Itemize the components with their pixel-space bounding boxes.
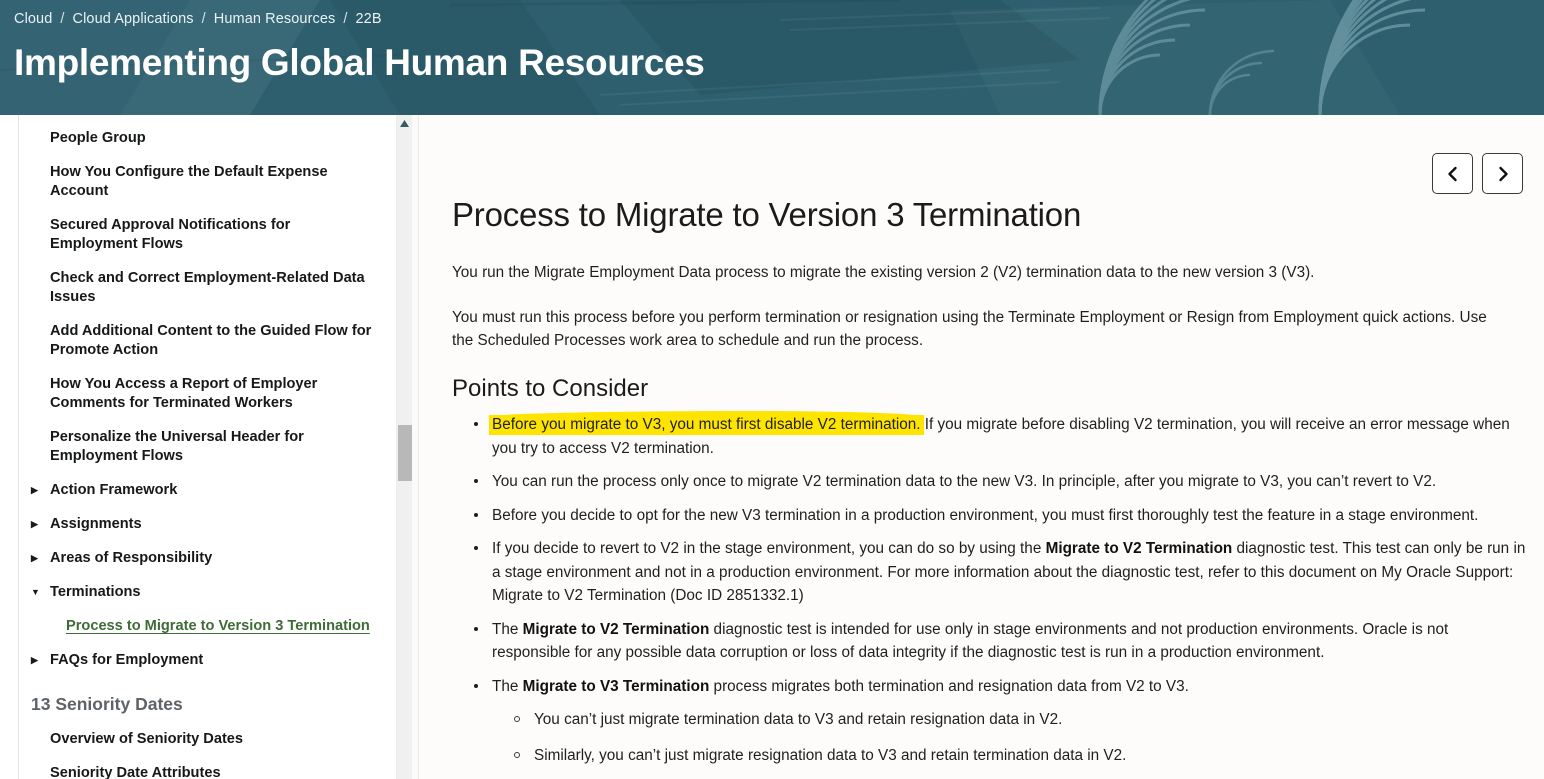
list-item-text-post: process migrates both termination and re… xyxy=(709,678,1189,695)
list-item-text: You can run the process only once to mig… xyxy=(492,473,1436,490)
highlighted-text: Before you migrate to V3, you must first… xyxy=(492,415,921,435)
scroll-up-arrow-icon[interactable] xyxy=(397,115,412,132)
body-area: People Group How You Configure the Defau… xyxy=(0,115,1544,779)
sidebar-item-label: Assignments xyxy=(50,516,142,532)
sidebar-item-terminations[interactable]: ▼ Terminations xyxy=(19,583,392,602)
list-item-text-pre: If you decide to revert to V2 in the sta… xyxy=(492,540,1046,557)
list-item-text-pre: The xyxy=(492,621,523,638)
chevron-right-icon[interactable]: ▶ xyxy=(31,518,41,530)
next-page-button[interactable] xyxy=(1482,153,1523,194)
sidebar-item-people-group[interactable]: People Group xyxy=(19,129,392,148)
chevron-down-icon[interactable]: ▼ xyxy=(31,586,41,598)
sidebar-item-label: Action Framework xyxy=(50,482,177,498)
sidebar-item-action-framework[interactable]: ▶ Action Framework xyxy=(19,481,392,500)
bullet-icon xyxy=(474,546,478,550)
sidebar-item-add-additional-content[interactable]: Add Additional Content to the Guided Flo… xyxy=(19,322,392,360)
list-item-text-bold: Migrate to V2 Termination xyxy=(523,621,710,638)
list-item: The Migrate to V3 Termination process mi… xyxy=(452,675,1527,768)
sidebar-scrollbar-track[interactable] xyxy=(396,115,412,779)
bullet-icon xyxy=(474,684,478,688)
sub-points-list: You can’t just migrate termination data … xyxy=(492,708,1527,767)
sidebar: People Group How You Configure the Defau… xyxy=(0,115,418,779)
breadcrumb-separator: / xyxy=(343,11,347,27)
sidebar-item-process-migrate-v3-active[interactable]: Process to Migrate to Version 3 Terminat… xyxy=(19,617,392,636)
breadcrumb-separator: / xyxy=(202,11,206,27)
sidebar-item-label: Add Additional Content to the Guided Flo… xyxy=(50,323,371,358)
document-title: Process to Migrate to Version 3 Terminat… xyxy=(452,195,1527,235)
sidebar-item-label: Seniority Date Attributes xyxy=(50,765,221,779)
sidebar-item-employer-comments-report[interactable]: How You Access a Report of Employer Comm… xyxy=(19,375,392,413)
sidebar-item-default-expense-account[interactable]: How You Configure the Default Expense Ac… xyxy=(19,163,392,201)
sidebar-item-label: Terminations xyxy=(50,584,141,600)
bullet-icon xyxy=(474,627,478,631)
sidebar-chapter-seniority-dates: 13 Seniority Dates xyxy=(19,694,392,715)
points-list: Before you migrate to V3, you must first… xyxy=(452,413,1527,767)
list-item: You can’t just migrate termination data … xyxy=(492,708,1527,732)
previous-page-button[interactable] xyxy=(1432,153,1473,194)
hollow-bullet-icon xyxy=(514,752,520,758)
sidebar-item-label: Secured Approval Notifications for Emplo… xyxy=(50,217,290,252)
list-item: Similarly, you can’t just migrate resign… xyxy=(492,744,1527,768)
list-item-text: Similarly, you can’t just migrate resign… xyxy=(534,747,1126,764)
chevron-right-icon[interactable]: ▶ xyxy=(31,552,41,564)
sidebar-item-label: Personalize the Universal Header for Emp… xyxy=(50,429,304,464)
sidebar-item-label: People Group xyxy=(50,130,146,146)
sidebar-item-areas-of-responsibility[interactable]: ▶ Areas of Responsibility xyxy=(19,549,392,568)
chevron-right-icon[interactable]: ▶ xyxy=(31,654,41,666)
sidebar-item-label: Areas of Responsibility xyxy=(50,550,212,566)
page-title: Implementing Global Human Resources xyxy=(14,42,705,84)
breadcrumb: Cloud / Cloud Applications / Human Resou… xyxy=(14,11,382,27)
breadcrumb-separator: / xyxy=(60,11,64,27)
intro-paragraph-2: You must run this process before you per… xyxy=(452,306,1512,352)
points-to-consider-heading: Points to Consider xyxy=(452,374,1527,404)
sidebar-item-label: FAQs for Employment xyxy=(50,652,203,668)
list-item: If you decide to revert to V2 in the sta… xyxy=(452,537,1527,608)
bullet-icon xyxy=(474,513,478,517)
sidebar-item-faqs-for-employment[interactable]: ▶ FAQs for Employment xyxy=(19,651,392,670)
chevron-right-icon[interactable]: ▶ xyxy=(31,484,41,496)
sidebar-item-seniority-date-attributes[interactable]: Seniority Date Attributes xyxy=(19,764,392,779)
list-item: The Migrate to V2 Termination diagnostic… xyxy=(452,618,1527,665)
list-item: Before you decide to opt for the new V3 … xyxy=(452,504,1527,528)
sidebar-nav: People Group How You Configure the Defau… xyxy=(19,115,392,779)
sidebar-scrollbar-thumb[interactable] xyxy=(398,425,412,481)
list-item-text-bold: Migrate to V3 Termination xyxy=(523,678,710,695)
hollow-bullet-icon xyxy=(514,716,520,722)
sidebar-item-label: How You Access a Report of Employer Comm… xyxy=(50,376,317,411)
list-item: You can run the process only once to mig… xyxy=(452,470,1527,494)
page-navigation-buttons xyxy=(1432,153,1523,194)
sidebar-item-label: Overview of Seniority Dates xyxy=(50,731,243,747)
sidebar-item-check-correct-employment-data[interactable]: Check and Correct Employment-Related Dat… xyxy=(19,269,392,307)
bullet-icon xyxy=(474,479,478,483)
breadcrumb-item-cloud-applications[interactable]: Cloud Applications xyxy=(73,11,194,27)
list-item-text: Before you decide to opt for the new V3 … xyxy=(492,507,1478,524)
sidebar-item-personalize-universal-header[interactable]: Personalize the Universal Header for Emp… xyxy=(19,428,392,466)
sidebar-item-overview-seniority-dates[interactable]: Overview of Seniority Dates xyxy=(19,730,392,749)
list-item-text-bold: Migrate to V2 Termination xyxy=(1046,540,1233,557)
sidebar-item-assignments[interactable]: ▶ Assignments xyxy=(19,515,392,534)
breadcrumb-item-cloud[interactable]: Cloud xyxy=(14,11,52,27)
sidebar-item-secured-approval-notifications[interactable]: Secured Approval Notifications for Emplo… xyxy=(19,216,392,254)
main-content: Process to Migrate to Version 3 Terminat… xyxy=(418,115,1544,779)
list-item: Before you migrate to V3, you must first… xyxy=(452,413,1527,460)
article: Process to Migrate to Version 3 Terminat… xyxy=(452,195,1527,779)
chevron-left-icon xyxy=(1447,166,1459,182)
bullet-icon xyxy=(474,422,478,426)
sidebar-item-label: Check and Correct Employment-Related Dat… xyxy=(50,270,365,305)
chevron-right-icon xyxy=(1497,166,1509,182)
list-item-text-pre: The xyxy=(492,678,523,695)
intro-paragraph-1: You run the Migrate Employment Data proc… xyxy=(452,261,1512,284)
breadcrumb-item-human-resources[interactable]: Human Resources xyxy=(214,11,336,27)
sidebar-item-label: How You Configure the Default Expense Ac… xyxy=(50,164,328,199)
list-item-text: You can’t just migrate termination data … xyxy=(534,711,1062,728)
breadcrumb-item-22b[interactable]: 22B xyxy=(356,11,382,27)
page-header: Cloud / Cloud Applications / Human Resou… xyxy=(0,0,1544,115)
